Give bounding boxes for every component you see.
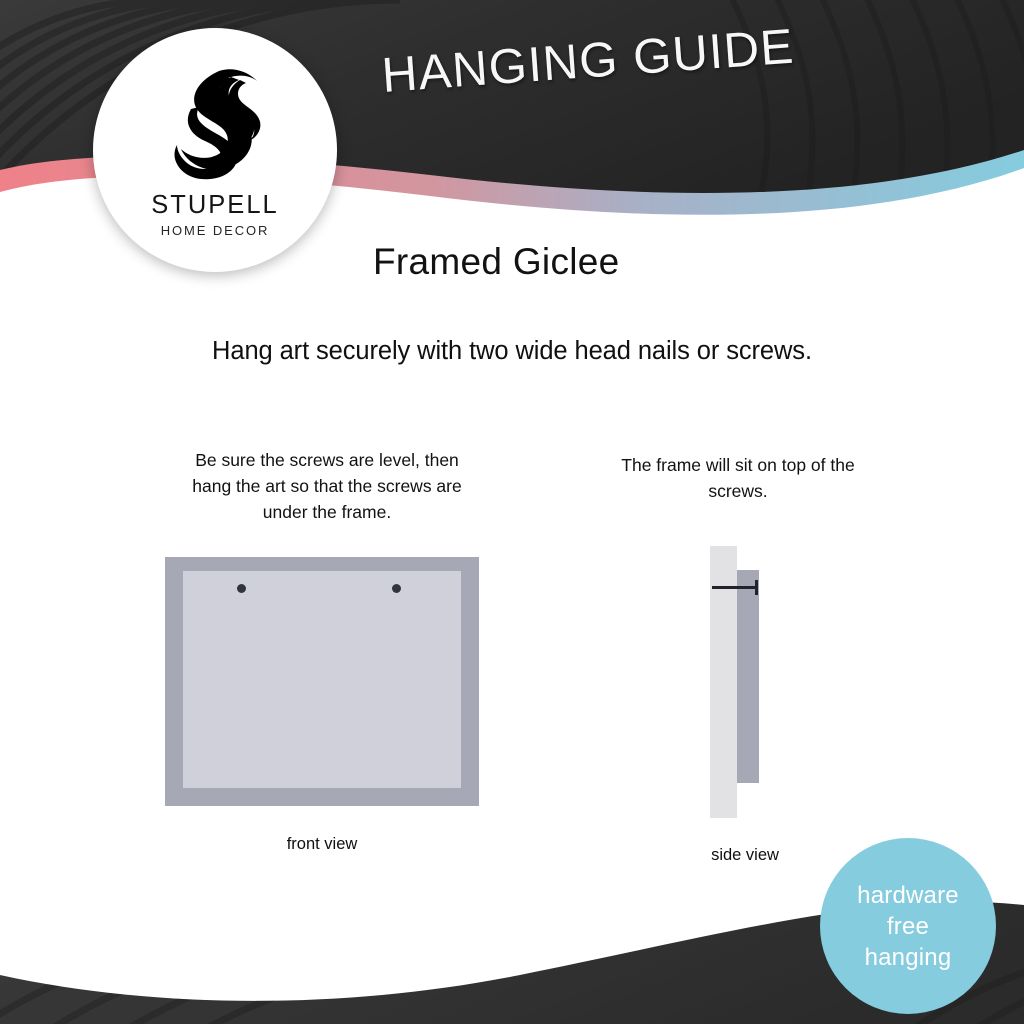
side-view-frame-diagram [700, 546, 790, 821]
badge-line-3: hanging [865, 942, 952, 973]
brand-logo-badge: STUPELL HOME DECOR [93, 28, 337, 272]
stupell-swoosh-logo-icon [161, 65, 269, 185]
screw-dot-right-icon [392, 584, 401, 593]
product-type-title: Framed Giclee [373, 241, 620, 283]
badge-line-1: hardware [857, 880, 959, 911]
front-view-frame-diagram [165, 557, 479, 806]
brand-wordmark: STUPELL [151, 191, 278, 220]
front-view-label: front view [165, 835, 479, 854]
nail-head-icon [755, 580, 758, 595]
side-view-frame-bar [737, 570, 759, 783]
hanging-guide-page: HANGING GUIDE STUPELL HOME DECOR Framed … [0, 0, 1024, 1024]
hardware-free-hanging-badge: hardware free hanging [820, 838, 996, 1014]
side-view-caption: The frame will sit on top of the screws. [608, 452, 868, 504]
front-view-caption: Be sure the screws are level, then hang … [177, 447, 477, 525]
brand-subwordmark: HOME DECOR [161, 223, 270, 238]
side-view-label: side view [660, 846, 830, 865]
screw-dot-left-icon [237, 584, 246, 593]
page-title: HANGING GUIDE [380, 19, 796, 104]
badge-line-2: free [887, 911, 929, 942]
nail-shaft-icon [712, 586, 758, 589]
front-view-mat-area [183, 571, 461, 788]
main-instruction-text: Hang art securely with two wide head nai… [0, 337, 1024, 366]
